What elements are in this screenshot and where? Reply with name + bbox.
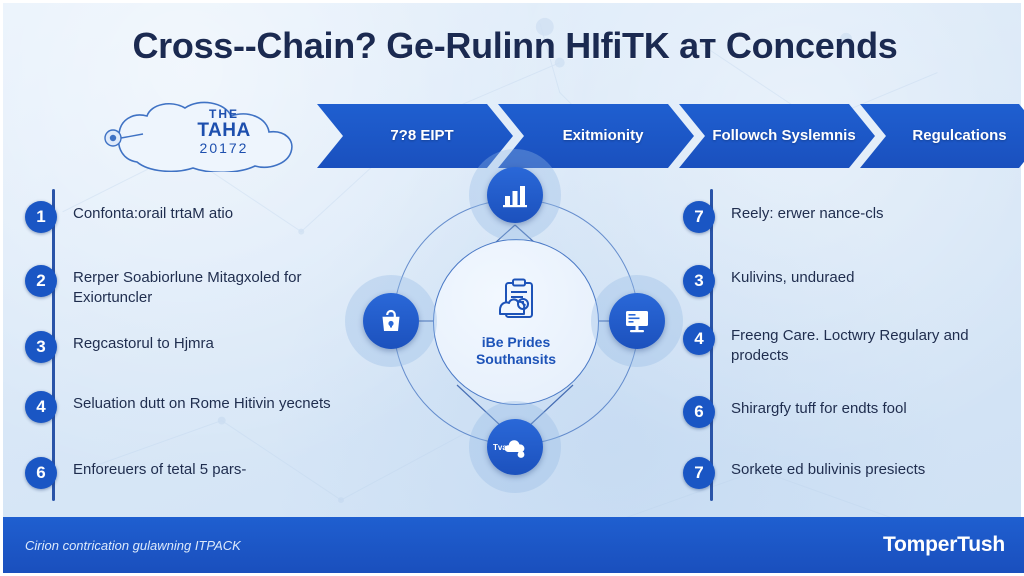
list-item-label: Seluation dutt on Rome Hitivin yecnets	[73, 394, 331, 414]
list-item-label: Reely: erwer nance-cls	[731, 204, 884, 224]
clipboard-document-icon	[490, 276, 542, 328]
process-step-4[interactable]: Regulcations	[860, 104, 1024, 168]
center-hub-diagram: Tvarn	[365, 171, 665, 491]
list-item[interactable]: 7 Sorkete ed bulivinis presiects	[683, 457, 925, 489]
list-item[interactable]: 3 Regcastorul to Hjmra	[25, 331, 214, 363]
list-item-label: Regcastorul to Hjmra	[73, 334, 214, 354]
list-item[interactable]: 2 Rerper Soabiorlune Mitagxoled for Exio…	[25, 265, 345, 307]
process-step-3[interactable]: Followch Syslemnis	[679, 104, 875, 168]
list-item-number: 6	[25, 457, 57, 489]
list-item-number: 4	[683, 323, 715, 355]
list-item-label: Shirargfy tuff for endts fool	[731, 399, 907, 419]
list-item-number: 3	[683, 265, 715, 297]
badge-line-1: THE	[149, 108, 299, 121]
hub-satellite-left[interactable]	[363, 293, 419, 349]
badge-line-2: TAHA	[149, 121, 299, 141]
list-item-number: 6	[683, 396, 715, 428]
list-item-label: Freeng Care. Loctwry Regulary and prodec…	[731, 326, 1003, 365]
list-item-number: 4	[25, 391, 57, 423]
list-item-number: 7	[683, 201, 715, 233]
badge-line-3: 20172	[149, 141, 299, 156]
hub-satellite-top[interactable]	[487, 167, 543, 223]
list-item[interactable]: 4 Freeng Care. Loctwry Regulary and prod…	[683, 323, 1003, 365]
list-item-number: 3	[25, 331, 57, 363]
list-item-label: Sorkete ed bulivinis presiects	[731, 460, 925, 480]
hub-core[interactable]: iBe Prides Southansits	[433, 239, 599, 405]
hub-satellite-right[interactable]	[609, 293, 665, 349]
hub-satellite-bottom[interactable]: Tvarn	[487, 419, 543, 475]
bar-chart-icon	[500, 180, 530, 210]
monitor-screen-icon	[622, 306, 652, 336]
list-item-number: 1	[25, 201, 57, 233]
list-item[interactable]: 6 Shirargfy tuff for endts fool	[683, 396, 907, 428]
list-item-label: Rerper Soabiorlune Mitagxoled for Exiort…	[73, 268, 345, 307]
list-item[interactable]: 7 Reely: erwer nance-cls	[683, 201, 884, 233]
process-step-1[interactable]: 7?8 EIPT	[317, 104, 513, 168]
list-item-label: Confonta:orail trtaM atio	[73, 204, 233, 224]
page-title: Cross--Chain? Ge-Rulinn HIfiTK aт Concen…	[3, 25, 1024, 67]
infographic-poster: Cross--Chain? Ge-Rulinn HIfiTK aт Concen…	[0, 0, 1024, 576]
badge-text-block: THE TAHA 20172	[149, 108, 299, 155]
list-item[interactable]: 6 Enforeuers of tetal 5 pars-	[25, 457, 246, 489]
list-item[interactable]: 4 Seluation dutt on Rome Hitivin yecnets	[25, 391, 331, 423]
badge-tag: THE TAHA 20172	[89, 100, 321, 172]
list-item-number: 2	[25, 265, 57, 297]
list-item-number: 7	[683, 457, 715, 489]
hub-satellite-bottom-label: Tvarn	[493, 443, 515, 452]
hub-core-label: iBe Prides Southansits	[441, 334, 591, 368]
footer-note: Cirion contrication gulawning ITPACK	[25, 538, 241, 553]
list-item[interactable]: 1 Confonta:orail trtaM atio	[25, 201, 233, 233]
list-item-label: Enforeuers of tetal 5 pars-	[73, 460, 246, 480]
footer-bar: Cirion contrication gulawning ITPACK Tom…	[3, 517, 1024, 573]
list-item-label: Kulivins, unduraed	[731, 268, 854, 288]
lock-bag-icon	[376, 306, 406, 336]
footer-brand: TomperTush	[883, 533, 1005, 557]
list-item[interactable]: 3 Kulivins, unduraed	[683, 265, 854, 297]
